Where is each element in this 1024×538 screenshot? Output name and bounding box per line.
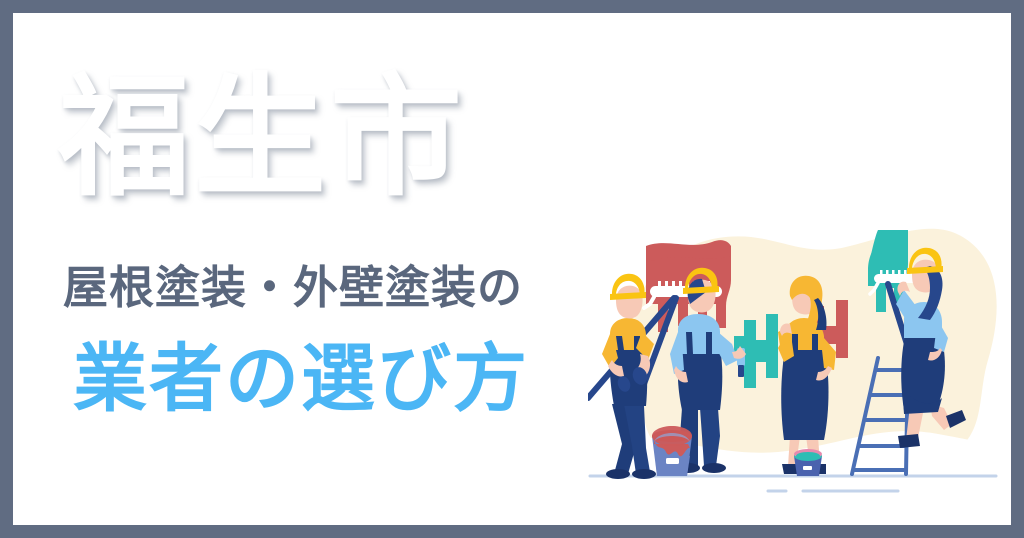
shoe [606,469,630,479]
paint-bucket-red [652,426,692,476]
subtitle-text: 屋根塗装・外壁塗装の [63,261,603,315]
shoe [898,434,920,448]
painters-illustration [588,208,1011,513]
shoe [632,469,656,479]
paint-bucket-teal [794,449,822,476]
shoe [702,463,726,473]
main-headline-text: 業者の選び方 [73,333,613,425]
banner-frame: 福生市 屋根塗装・外壁塗装の 業者の選び方 [0,0,1024,538]
page-title: 福生市 [58,58,528,218]
banner-card: 福生市 屋根塗装・外壁塗装の 業者の選び方 [13,13,1011,525]
headline-block: 福生市 屋根塗装・外壁塗装の 業者の選び方 [13,13,613,525]
